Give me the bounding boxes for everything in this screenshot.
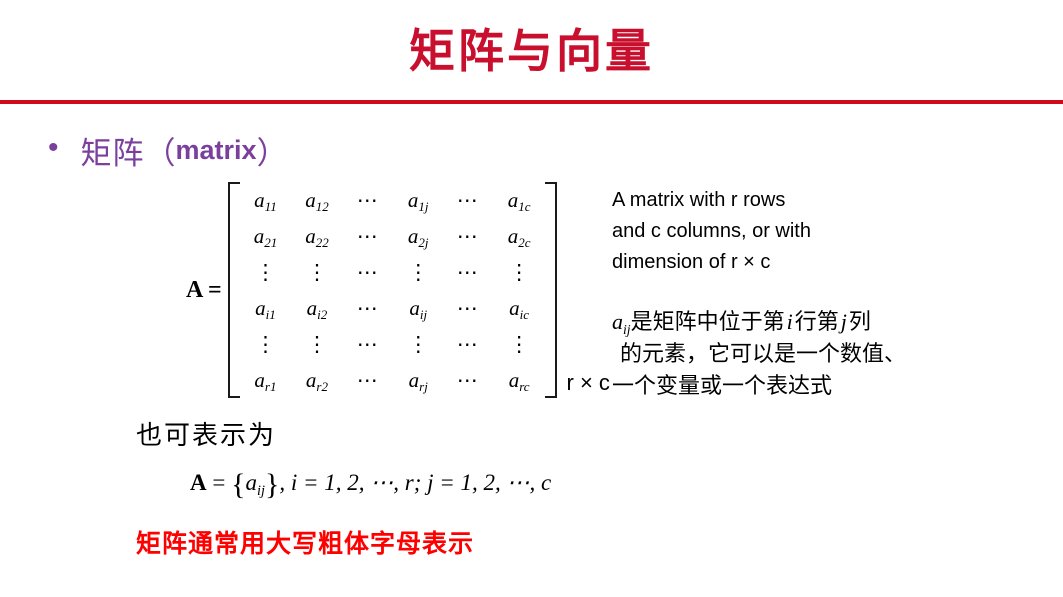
page-title: 矩阵与向量 — [0, 26, 1063, 79]
matrix-dimension-label: r × c — [567, 370, 610, 396]
english-description: A matrix with r rows and c columns, or w… — [612, 185, 811, 278]
matrix-ellipsis-horizontal: ⋯ — [443, 362, 494, 398]
matrix-entry: aic — [494, 290, 545, 326]
matrix-entry: aij — [394, 290, 443, 326]
matrix-ellipsis-vertical: ⋮ — [494, 326, 545, 362]
matrix-row: a11a12⋯a1j⋯a1c — [240, 182, 545, 218]
bullet-heading: • 矩阵 （ matrix ） — [48, 128, 288, 173]
matrix-entry: a1j — [394, 182, 443, 218]
matrix-ellipsis-horizontal: ⋯ — [343, 254, 394, 290]
matrix-ellipsis-vertical: ⋮ — [240, 326, 292, 362]
matrix-entry: a2c — [494, 218, 545, 254]
matrix-row: ⋮⋮⋯⋮⋯⋮ — [240, 254, 545, 290]
matrix-ellipsis-horizontal: ⋯ — [443, 218, 494, 254]
bullet-label-cn: 矩阵 — [81, 128, 145, 173]
matrix-right-bracket — [545, 182, 557, 398]
matrix-row: ⋮⋮⋯⋮⋯⋮ — [240, 326, 545, 362]
matrix-ellipsis-horizontal: ⋯ — [443, 254, 494, 290]
col-index-var: j — [839, 309, 849, 334]
matrix-ellipsis-horizontal: ⋯ — [443, 326, 494, 362]
formula-equals: = — [207, 470, 231, 495]
element-symbol: aij — [612, 309, 631, 334]
matrix-ellipsis-horizontal: ⋯ — [343, 290, 394, 326]
alternate-form-label: 也可表示为 — [136, 415, 276, 452]
matrix-entry: a22 — [291, 218, 343, 254]
bullet-label-en: matrix — [176, 135, 257, 166]
formula-brace-open: { — [231, 468, 245, 501]
matrix-entry: a2j — [394, 218, 443, 254]
formula-element: aij — [246, 470, 265, 495]
chinese-note-line3: 一个变量或一个表达式 — [612, 370, 962, 402]
matrix-ellipsis-vertical: ⋮ — [494, 254, 545, 290]
matrix-ellipsis-vertical: ⋮ — [240, 254, 292, 290]
matrix-entry: a11 — [240, 182, 292, 218]
matrix-row: ar1ar2⋯arj⋯arc — [240, 362, 545, 398]
matrix-entry: ar2 — [291, 362, 343, 398]
chinese-note-part2: 行第 — [795, 309, 839, 334]
matrix-entry: ar1 — [240, 362, 292, 398]
matrix-figure: A = a11a12⋯a1j⋯a1ca21a22⋯a2j⋯a2c⋮⋮⋯⋮⋯⋮ai… — [186, 182, 610, 398]
matrix-ellipsis-vertical: ⋮ — [291, 326, 343, 362]
formula-ranges: , i = 1, 2, ⋯, r; j = 1, 2, ⋯, c — [279, 470, 551, 495]
matrix-name-label: A = — [186, 277, 222, 304]
matrix-ellipsis-horizontal: ⋯ — [343, 218, 394, 254]
bullet-close-paren: ） — [257, 128, 288, 173]
matrix-entry: ai2 — [291, 290, 343, 326]
matrix-left-bracket — [228, 182, 240, 398]
matrix-entry: a1c — [494, 182, 545, 218]
matrix-entry: a12 — [291, 182, 343, 218]
matrix-grid: a11a12⋯a1j⋯a1ca21a22⋯a2j⋯a2c⋮⋮⋯⋮⋯⋮ai1ai2… — [240, 182, 545, 398]
title-divider — [0, 100, 1063, 104]
row-index-var: i — [785, 309, 795, 334]
matrix-ellipsis-vertical: ⋮ — [291, 254, 343, 290]
bullet-marker-icon: • — [48, 133, 59, 163]
matrix-entry: arc — [494, 362, 545, 398]
matrix-ellipsis-vertical: ⋮ — [394, 326, 443, 362]
red-annotation: 矩阵通常用大写粗体字母表示 — [136, 524, 474, 560]
matrix-ellipsis-horizontal: ⋯ — [443, 290, 494, 326]
formula-matrix-name: A — [190, 470, 207, 495]
matrix-ellipsis-vertical: ⋮ — [394, 254, 443, 290]
matrix-ellipsis-horizontal: ⋯ — [343, 182, 394, 218]
matrix-row: ai1ai2⋯aij⋯aic — [240, 290, 545, 326]
matrix-row: a21a22⋯a2j⋯a2c — [240, 218, 545, 254]
formula-brace-close: } — [265, 468, 279, 501]
chinese-note-part1: 是矩阵中位于第 — [631, 309, 785, 334]
matrix-ellipsis-horizontal: ⋯ — [443, 182, 494, 218]
chinese-note-part3: 列 — [849, 309, 871, 334]
matrix-ellipsis-horizontal: ⋯ — [343, 326, 394, 362]
matrix-ellipsis-horizontal: ⋯ — [343, 362, 394, 398]
matrix-entry: ai1 — [240, 290, 292, 326]
chinese-description: aij是矩阵中位于第i行第j列 的元素，它可以是一个数值、 一个变量或一个表达式 — [612, 306, 962, 402]
set-notation-formula: A = {aij}, i = 1, 2, ⋯, r; j = 1, 2, ⋯, … — [190, 468, 551, 502]
chinese-note-line2: 的元素，它可以是一个数值、 — [612, 338, 962, 370]
matrix-entry: a21 — [240, 218, 292, 254]
bullet-open-paren: （ — [145, 128, 176, 173]
matrix-entry: arj — [394, 362, 443, 398]
